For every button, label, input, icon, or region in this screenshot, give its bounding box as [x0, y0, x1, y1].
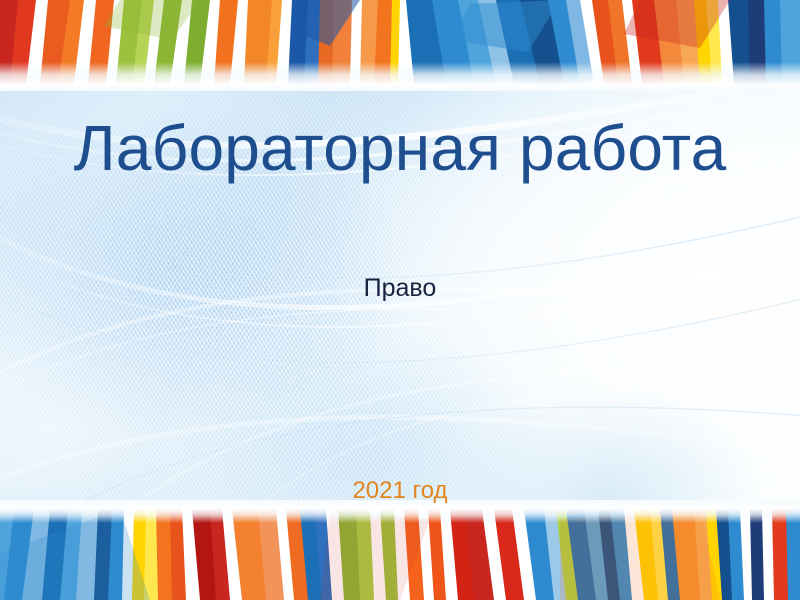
bottom-decorative-banner — [0, 509, 800, 600]
top-white-divider — [0, 84, 800, 91]
bottom-banner-shards-svg — [0, 509, 800, 600]
slide-year: 2021 год — [0, 476, 800, 506]
slide-title: Лабораторная работа — [0, 112, 800, 184]
top-banner-shards-svg — [0, 0, 800, 84]
top-decorative-banner — [0, 0, 800, 84]
slide-subtitle: Право — [0, 272, 800, 304]
title-slide: Лабораторная работа Право 2021 год — [0, 0, 800, 600]
